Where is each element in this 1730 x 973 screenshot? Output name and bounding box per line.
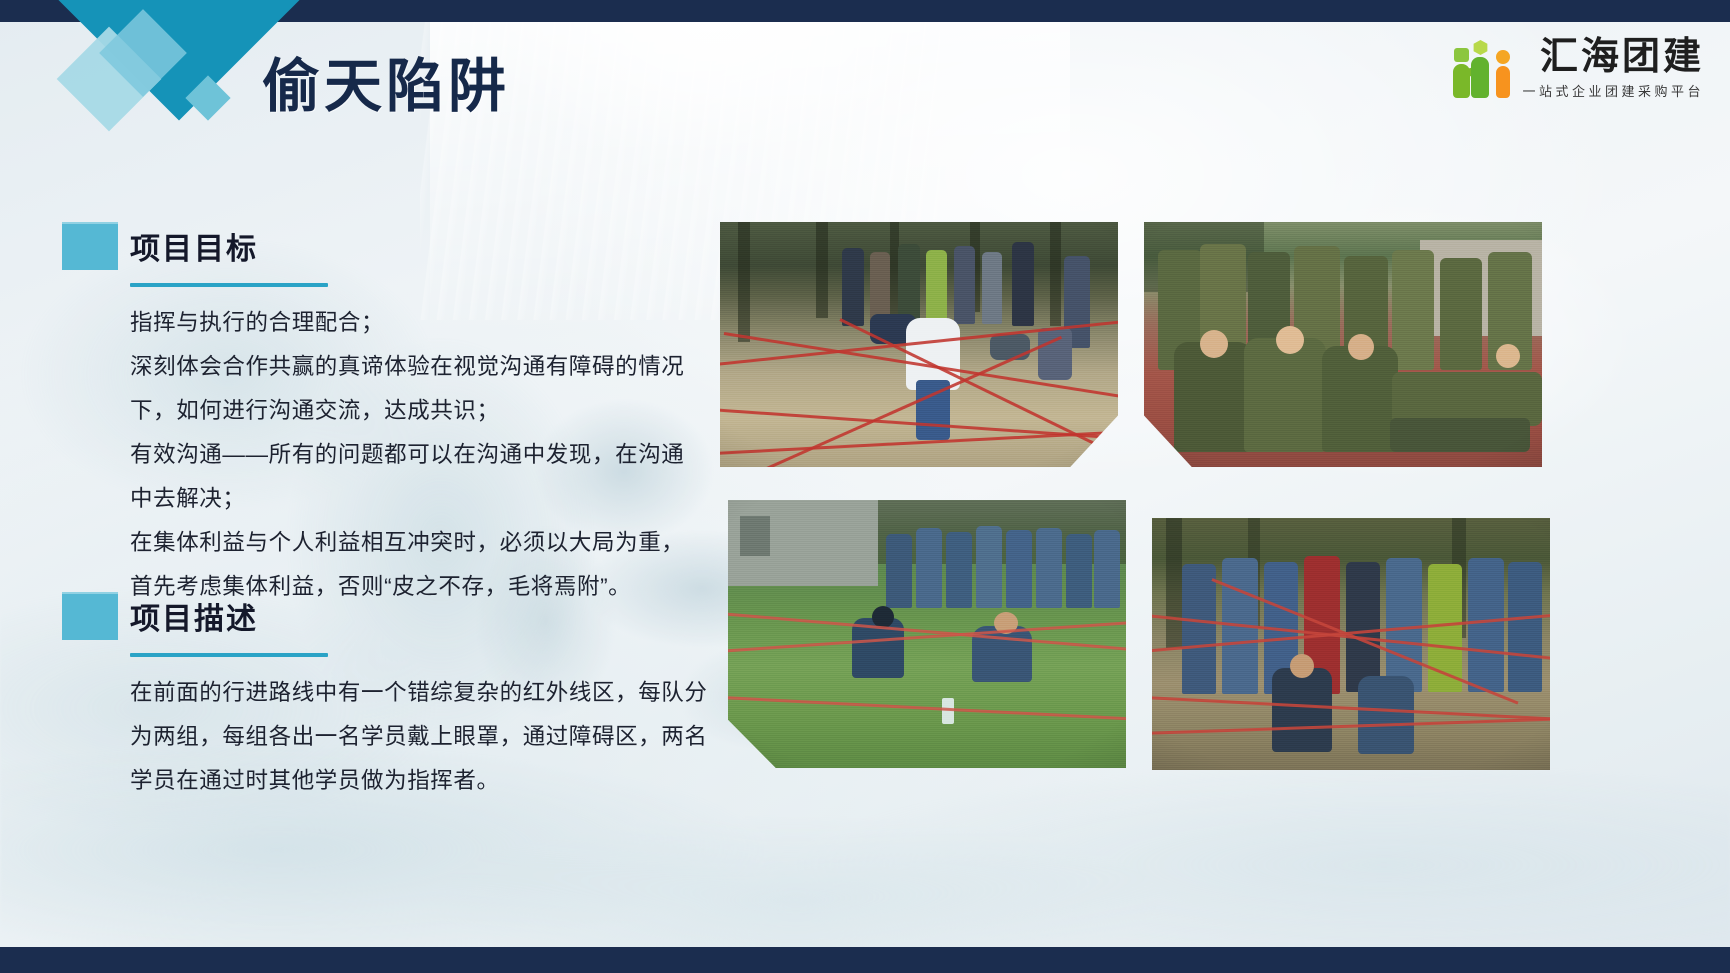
logo-name: 汇海团建 xyxy=(1540,38,1704,78)
photo-blue-vest-team xyxy=(1152,518,1550,770)
logo-subtitle: 一站式企业团建采购平台 xyxy=(1522,81,1704,100)
logo-text-block: 汇海团建 一站式企业团建采购平台 xyxy=(1522,38,1704,100)
body-line: 学员在通过时其他学员做为指挥者。 xyxy=(130,759,702,803)
bottom-accent-bar xyxy=(0,947,1730,973)
diamond-medium-icon xyxy=(99,9,187,97)
top-accent-bar xyxy=(0,0,1730,22)
section-title: 项目描述 xyxy=(130,594,258,638)
section-header: 项目目标 xyxy=(62,222,702,270)
section-body: 指挥与执行的合理配合； 深刻体会合作共赢的真谛体验在视觉沟通有障碍的情况 下，如… xyxy=(130,301,702,609)
photo-outdoor-rope-maze xyxy=(720,222,1118,467)
section-body: 在前面的行进路线中有一个错综复杂的红外线区，每队分 为两组，每组各出一名学员戴上… xyxy=(130,671,702,803)
body-line: 中去解决； xyxy=(130,477,702,521)
body-line: 在前面的行进路线中有一个错综复杂的红外线区，每队分 xyxy=(130,671,702,715)
logo-figure2-head xyxy=(1472,40,1488,55)
body-line: 为两组，每组各出一名学员戴上眼罩，通过障碍区，两名 xyxy=(130,715,702,759)
brand-logo: 汇海团建 一站式企业团建采购平台 xyxy=(1452,38,1704,100)
section-project-goal: 项目目标 指挥与执行的合理配合； 深刻体会合作共赢的真谛体验在视觉沟通有障碍的情… xyxy=(62,222,702,609)
body-line: 有效沟通——所有的问题都可以在沟通中发现，在沟通 xyxy=(130,433,702,477)
logo-figure3-body xyxy=(1496,66,1510,98)
logo-figure2-body xyxy=(1471,57,1489,98)
section-chip-icon xyxy=(62,222,118,270)
photo-grass-field-team xyxy=(728,500,1126,768)
section-project-description: 项目描述 在前面的行进路线中有一个错综复杂的红外线区，每队分 为两组，每组各出一… xyxy=(62,592,702,803)
body-line: 下，如何进行沟通交流，达成共识； xyxy=(130,389,702,433)
diamond-pale-icon xyxy=(57,27,162,132)
section-underline xyxy=(130,283,328,287)
body-line: 指挥与执行的合理配合； xyxy=(130,301,702,345)
section-underline xyxy=(130,653,328,657)
section-title: 项目目标 xyxy=(130,224,258,268)
section-header: 项目描述 xyxy=(62,592,702,640)
body-line: 深刻体会合作共赢的真谛体验在视觉沟通有障碍的情况 xyxy=(130,345,702,389)
logo-figure1-head xyxy=(1454,48,1469,62)
slide-canvas: 偷天陷阱 汇海团建 一站式企业团建采购平台 项目目标 指挥与执行的合理配合； 深… xyxy=(0,0,1730,973)
section-chip-icon xyxy=(62,592,118,640)
diamond-small-icon xyxy=(185,75,230,120)
logo-figure3-head xyxy=(1496,50,1510,64)
photo-camouflage-team xyxy=(1144,222,1542,467)
body-line: 在集体利益与个人利益相互冲突时，必须以大局为重， xyxy=(130,521,702,565)
logo-people-icon xyxy=(1452,38,1514,100)
page-title: 偷天陷阱 xyxy=(262,58,510,116)
photo-collage xyxy=(720,222,1680,782)
